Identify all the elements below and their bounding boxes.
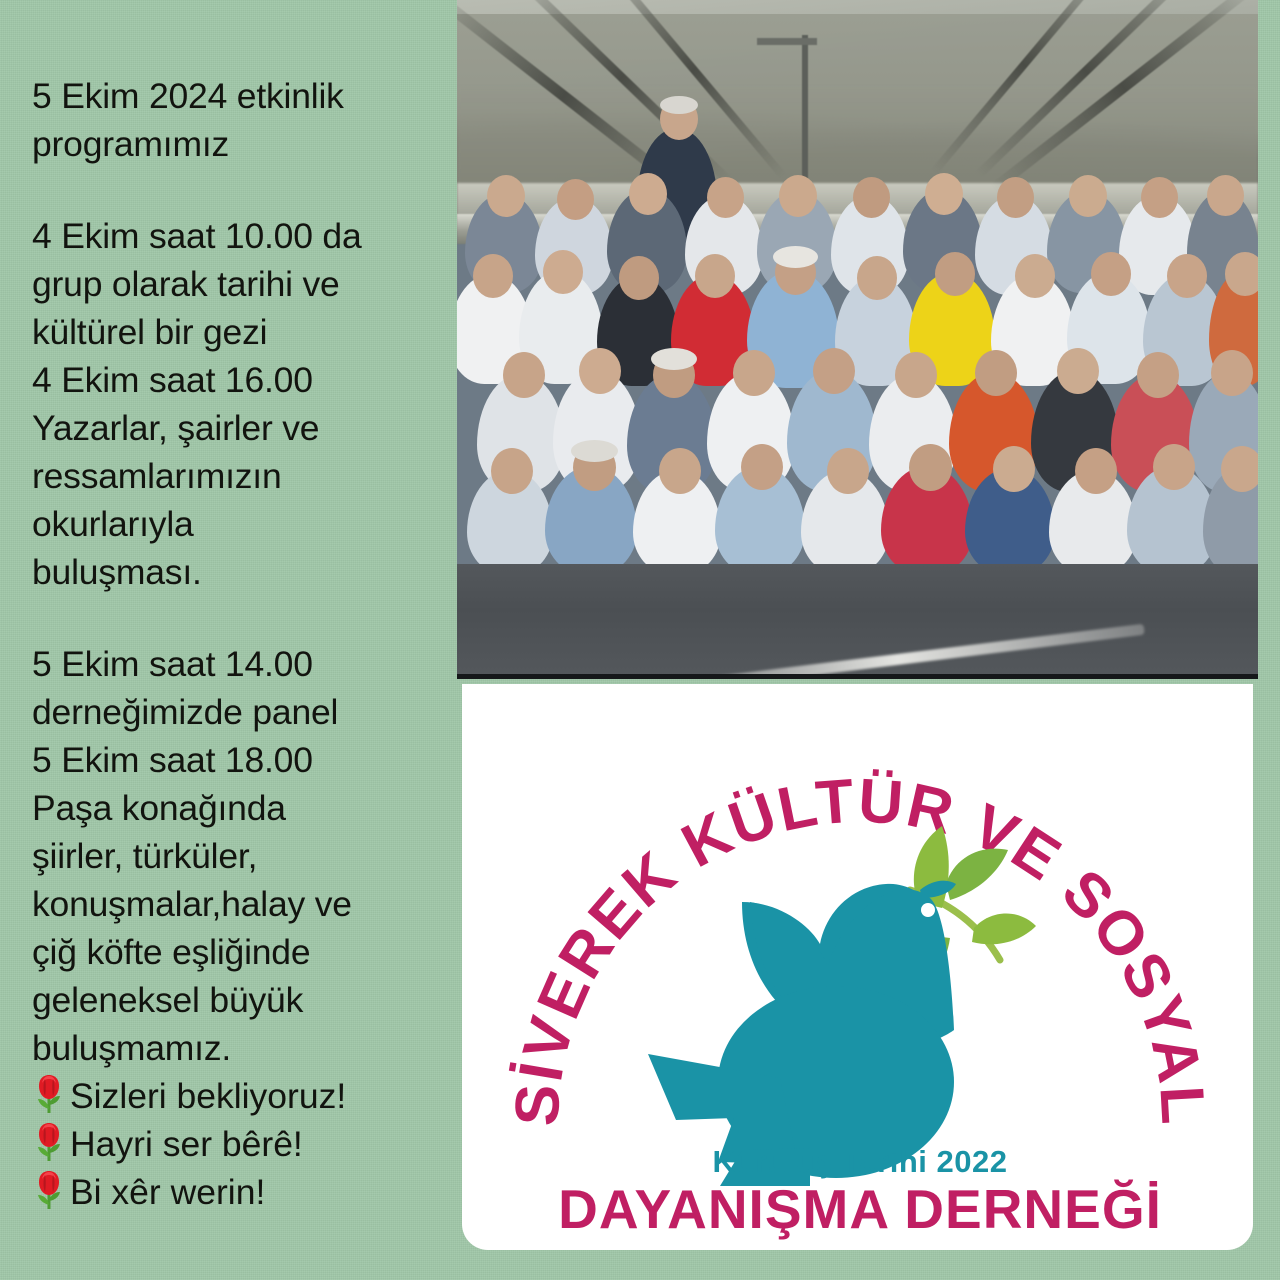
closing-line-2: Hayri ser bêrê! bbox=[32, 1120, 447, 1168]
closing-line-1-text: Sizleri bekliyoruz! bbox=[70, 1072, 346, 1120]
organization-logo-card: SİVEREK KÜLTÜR VE SOSYAL bbox=[462, 684, 1253, 1250]
paragraph-spacer bbox=[32, 168, 447, 212]
paragraph-spacer-2 bbox=[32, 596, 447, 640]
closing-line-2-text: Hayri ser bêrê! bbox=[70, 1120, 303, 1168]
photo-person-hair bbox=[660, 96, 698, 114]
logo-bottom-text: DAYANIŞMA DERNEĞİ bbox=[558, 1178, 1162, 1240]
bridge-lamp-icon bbox=[757, 38, 817, 45]
photo-crowd-row-seated bbox=[457, 440, 1258, 570]
rose-icon bbox=[32, 1169, 66, 1215]
logo-founded-text: Kuruluş Tarihi 2022 bbox=[713, 1144, 1008, 1179]
bridge-pole-icon bbox=[802, 35, 808, 185]
poster-canvas: 5 Ekim 2024 etkinlik programımız 4 Ekim … bbox=[0, 0, 1280, 1280]
closing-line-3: Bi xêr werin! bbox=[32, 1168, 447, 1216]
announcement-block-1: 5 Ekim 2024 etkinlik programımız bbox=[32, 72, 447, 168]
announcement-block-3: 5 Ekim saat 14.00 derneğimizde panel 5 E… bbox=[32, 640, 447, 1072]
dove-icon bbox=[648, 881, 956, 1186]
closing-line-3-text: Bi xêr werin! bbox=[70, 1168, 265, 1216]
announcement-text-column: 5 Ekim 2024 etkinlik programımız 4 Ekim … bbox=[0, 0, 455, 1280]
rose-icon bbox=[32, 1073, 66, 1119]
logo-wrapper: SİVEREK KÜLTÜR VE SOSYAL bbox=[462, 684, 1253, 1250]
logo-svg: SİVEREK KÜLTÜR VE SOSYAL bbox=[480, 694, 1240, 1240]
announcement-block-2: 4 Ekim saat 10.00 da grup olarak tarihi … bbox=[32, 212, 447, 596]
photo-bottom-edge bbox=[457, 674, 1258, 679]
group-photo bbox=[457, 0, 1258, 679]
rose-icon bbox=[32, 1121, 66, 1167]
closing-line-1: Sizleri bekliyoruz! bbox=[32, 1072, 447, 1120]
